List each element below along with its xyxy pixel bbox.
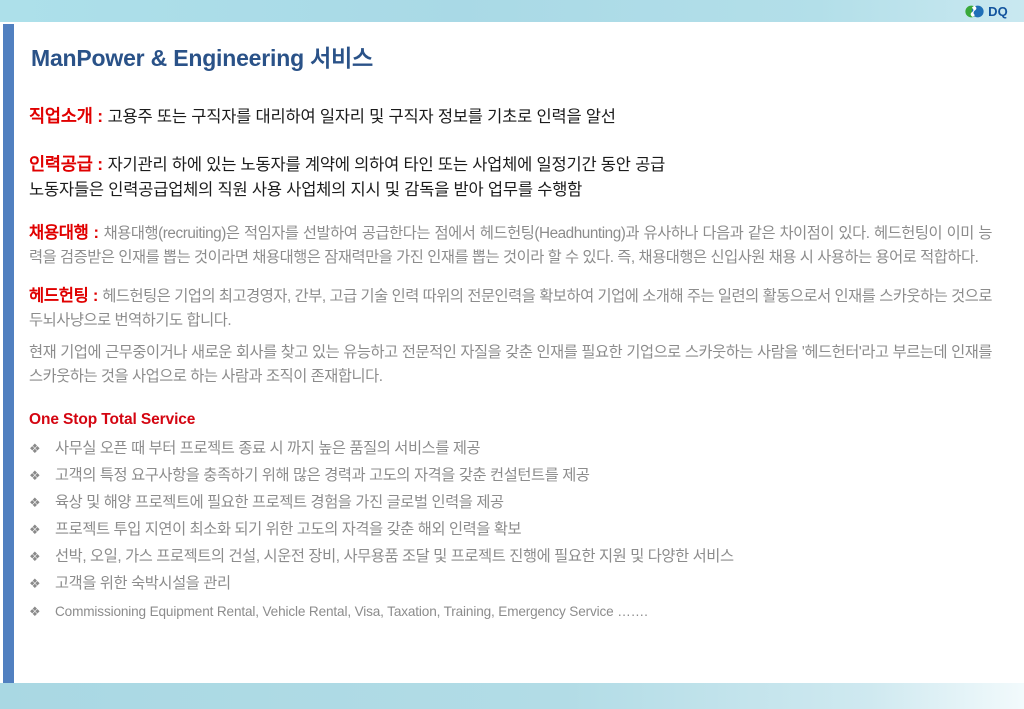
slide-canvas: DQ ManPower & Engineering 서비스 직업소개 : 고용주…	[0, 0, 1024, 709]
diamond-bullet-icon: ❖	[29, 598, 55, 625]
diamond-bullet-icon: ❖	[29, 462, 55, 489]
content-body: 직업소개 : 고용주 또는 구직자를 대리하여 일자리 및 구직자 정보를 기초…	[29, 104, 993, 627]
section-headhunting-extra: 현재 기업에 근무중이거나 새로운 회사를 찾고 있는 유능하고 전문적인 자질…	[29, 341, 992, 389]
list-item: ❖ 프로젝트 투입 지연이 최소화 되기 위한 고도의 자격을 갖춘 해외 인력…	[29, 516, 993, 543]
list-item: ❖ 고객의 특정 요구사항을 충족하기 위해 많은 경력과 고도의 자격을 갖춘…	[29, 462, 993, 489]
section-job-intro: 직업소개 : 고용주 또는 구직자를 대리하여 일자리 및 구직자 정보를 기초…	[29, 104, 993, 130]
manpower-line-2: 노동자들은 인력공급업체의 직원 사용 사업체의 지시 및 감독을 받아 업무를…	[29, 178, 993, 203]
logo-wordmark: DQ	[988, 5, 1008, 18]
spacer	[29, 130, 993, 152]
spacer	[29, 333, 993, 341]
list-item-label: 사무실 오픈 때 부터 프로젝트 종료 시 까지 높은 품질의 서비스를 제공	[55, 435, 993, 462]
company-logo: DQ	[965, 2, 1008, 21]
list-item-label: Commissioning Equipment Rental, Vehicle …	[55, 597, 993, 627]
spacer	[29, 389, 993, 411]
list-item-label: 육상 및 해양 프로젝트에 필요한 프로젝트 경험을 가진 글로벌 인력을 제공	[55, 489, 993, 516]
bottom-decorative-band	[0, 683, 1024, 709]
manpower-line-1: 인력공급 : 자기관리 하에 있는 노동자를 계약에 의하여 타인 또는 사업체…	[29, 152, 993, 178]
section-text-headhunting: 헤드헌팅은 기업의 최고경영자, 간부, 고급 기술 인력 따위의 전문인력을 …	[29, 288, 992, 329]
one-stop-heading: One Stop Total Service	[29, 411, 993, 429]
swirl-logo-icon	[965, 2, 984, 21]
list-item: ❖ 육상 및 해양 프로젝트에 필요한 프로젝트 경험을 가진 글로벌 인력을 …	[29, 489, 993, 516]
list-item-label: 고객을 위한 숙박시설을 관리	[55, 570, 993, 597]
diamond-bullet-icon: ❖	[29, 516, 55, 543]
section-separator: :	[93, 106, 108, 126]
list-item: ❖ 고객을 위한 숙박시설을 관리	[29, 570, 993, 597]
page-title: ManPower & Engineering 서비스	[31, 39, 373, 73]
section-manpower-supply: 인력공급 : 자기관리 하에 있는 노동자를 계약에 의하여 타인 또는 사업체…	[29, 152, 993, 203]
section-separator: :	[89, 224, 104, 242]
section-text-job-intro: 고용주 또는 구직자를 대리하여 일자리 및 구직자 정보를 기초로 인력을 알…	[108, 108, 616, 126]
diamond-bullet-icon: ❖	[29, 570, 55, 597]
list-item: ❖ 사무실 오픈 때 부터 프로젝트 종료 시 까지 높은 품질의 서비스를 제…	[29, 435, 993, 462]
section-separator: :	[89, 287, 103, 305]
section-recruiting: 채용대행 : 채용대행(recruiting)은 적임자를 선발하여 공급한다는…	[29, 221, 992, 270]
list-item-label: 고객의 특정 요구사항을 충족하기 위해 많은 경력과 고도의 자격을 갖춘 컨…	[55, 462, 993, 489]
spacer	[29, 270, 993, 284]
one-stop-bullet-list: ❖ 사무실 오픈 때 부터 프로젝트 종료 시 까지 높은 품질의 서비스를 제…	[29, 435, 993, 627]
list-item: ❖ Commissioning Equipment Rental, Vehicl…	[29, 597, 993, 627]
section-text-recruiting: 채용대행(recruiting)은 적임자를 선발하여 공급한다는 점에서 헤드…	[29, 225, 992, 266]
diamond-bullet-icon: ❖	[29, 489, 55, 516]
diamond-bullet-icon: ❖	[29, 435, 55, 462]
section-label-job-intro: 직업소개	[29, 106, 93, 126]
section-label-recruiting: 채용대행	[29, 224, 89, 242]
diamond-bullet-icon: ❖	[29, 543, 55, 570]
list-item-label: 선박, 오일, 가스 프로젝트의 건설, 시운전 장비, 사무용품 조달 및 프…	[55, 543, 993, 570]
top-decorative-band	[0, 0, 1024, 22]
list-item-label: 프로젝트 투입 지연이 최소화 되기 위한 고도의 자격을 갖춘 해외 인력을 …	[55, 516, 993, 543]
list-item: ❖ 선박, 오일, 가스 프로젝트의 건설, 시운전 장비, 사무용품 조달 및…	[29, 543, 993, 570]
section-headhunting: 헤드헌팅 : 헤드헌팅은 기업의 최고경영자, 간부, 고급 기술 인력 따위의…	[29, 284, 992, 333]
spacer	[29, 203, 993, 221]
section-text-manpower-1: 자기관리 하에 있는 노동자를 계약에 의하여 타인 또는 사업체에 일정기간 …	[108, 156, 666, 174]
left-accent-bar	[3, 24, 14, 683]
section-label-manpower-supply: 인력공급	[29, 154, 93, 174]
section-separator: :	[93, 154, 108, 174]
section-label-headhunting: 헤드헌팅	[29, 287, 89, 305]
